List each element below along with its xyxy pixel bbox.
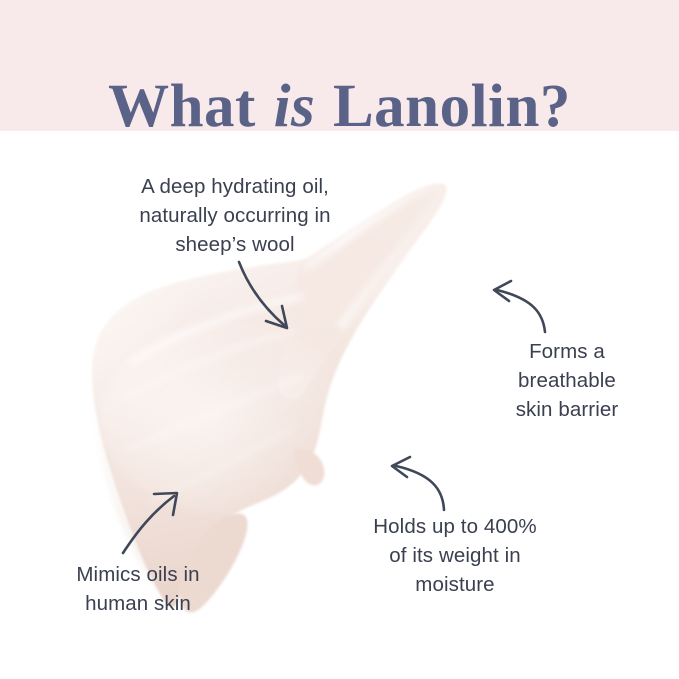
- page-title-text-after: Lanolin?: [317, 76, 571, 137]
- callout-barrier-label: Forms a breathable skin barrier: [478, 337, 656, 424]
- page-title-emphasis: is: [272, 76, 318, 137]
- infographic-page: What is Lanolin?: [0, 0, 679, 679]
- callout-moisture-label: Holds up to 400% of its weight in moistu…: [330, 512, 580, 599]
- callout-mimics-label: Mimics oils in human skin: [38, 560, 238, 618]
- page-title-text-before: What: [108, 76, 272, 137]
- callout-hydrating-label: A deep hydrating oil, naturally occurrin…: [100, 172, 370, 259]
